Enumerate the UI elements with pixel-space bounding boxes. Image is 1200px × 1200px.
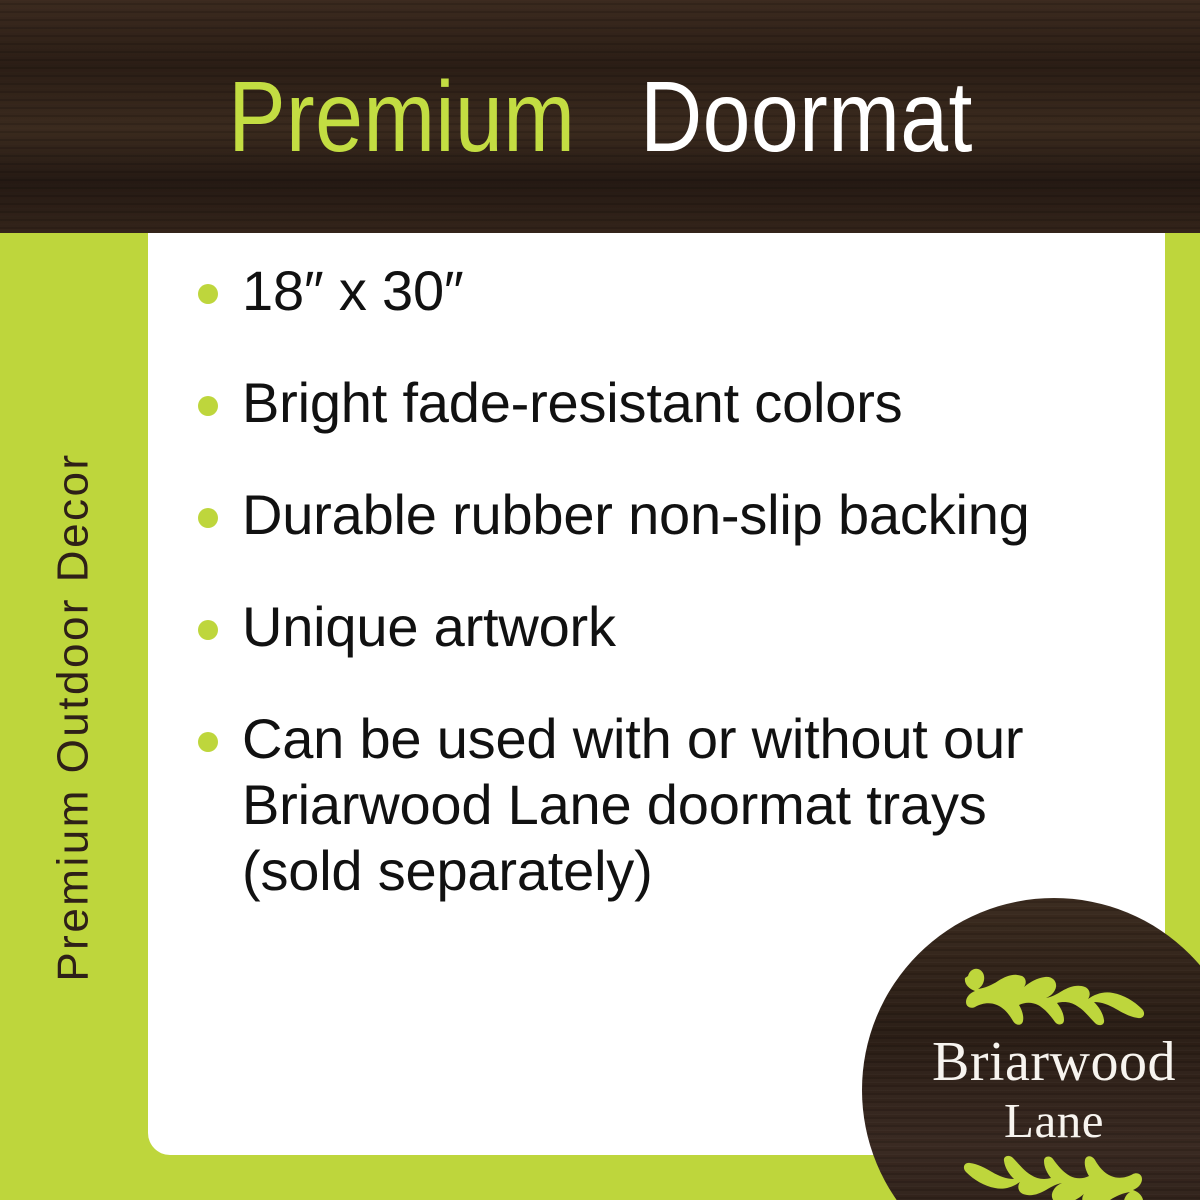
- list-item: Bright fade-resistant colors: [172, 370, 1092, 436]
- bullet-dot-icon: [198, 396, 218, 416]
- list-item: Can be used with or without our Briarwoo…: [172, 706, 1092, 904]
- page-title: Premium Doormat: [0, 0, 1200, 233]
- list-item: 18″ x 30″: [172, 258, 1092, 324]
- page-title-accent-word: Premium: [228, 67, 575, 167]
- brand-wordmark-line2: Lane: [932, 1096, 1176, 1145]
- list-item-label: Bright fade-resistant colors: [242, 370, 1092, 436]
- list-item: Unique artwork: [172, 594, 1092, 660]
- product-infographic: Premium Doormat Premium Outdoor Decor 18…: [0, 0, 1200, 1200]
- page-title-main-word: Doormat: [640, 67, 973, 167]
- brand-logo-badge: Briarwood Lane: [862, 898, 1200, 1200]
- oak-leaf-flourish-icon: [954, 1155, 1154, 1200]
- bullet-dot-icon: [198, 508, 218, 528]
- bullet-dot-icon: [198, 732, 218, 752]
- bullet-dot-icon: [198, 284, 218, 304]
- list-item-label: Durable rubber non-slip backing: [242, 482, 1092, 548]
- brand-logo-content: Briarwood Lane: [862, 898, 1200, 1200]
- list-item-label: Can be used with or without our Briarwoo…: [242, 706, 1092, 904]
- list-item-label: Unique artwork: [242, 594, 1092, 660]
- feature-list: 18″ x 30″ Bright fade-resistant colors D…: [172, 258, 1092, 905]
- brand-wordmark-line1: Briarwood: [932, 1034, 1176, 1090]
- bullet-dot-icon: [198, 620, 218, 640]
- list-item: Durable rubber non-slip backing: [172, 482, 1092, 548]
- oak-leaf-flourish-icon: [954, 964, 1154, 1026]
- list-item-label: 18″ x 30″: [242, 258, 1092, 324]
- brand-wordmark: Briarwood Lane: [932, 1034, 1176, 1145]
- left-accent-rail: [0, 233, 148, 1200]
